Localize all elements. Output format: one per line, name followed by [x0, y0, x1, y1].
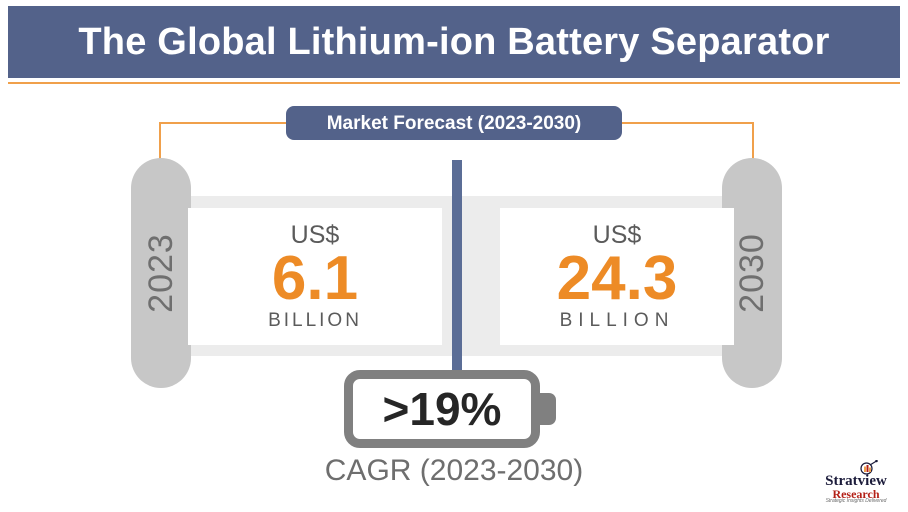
battery-body: >19%: [344, 370, 540, 448]
brand-logo: Stratview Research Strategic Insights De…: [812, 460, 900, 506]
infographic-canvas: The Global Lithium-ion Battery Separator…: [0, 0, 908, 512]
cagr-value: >19%: [383, 386, 502, 432]
header-bar: The Global Lithium-ion Battery Separator: [8, 6, 900, 78]
cagr-label: CAGR (2023-2030): [0, 456, 908, 486]
value-card-end: US$ 24.3 BILLION: [500, 208, 734, 345]
center-divider: [452, 160, 462, 375]
connector-right-horizontal: [620, 122, 754, 124]
logo-tagline: Strategic Insights Delivered: [812, 499, 900, 504]
value-unit-start: BILLION: [268, 311, 362, 330]
value-number-end: 24.3: [557, 250, 678, 309]
value-card-start: US$ 6.1 BILLION: [188, 208, 442, 345]
year-label-start: 2023: [144, 233, 178, 313]
year-pill-start: 2023: [131, 158, 191, 388]
connector-left-horizontal: [159, 122, 294, 124]
header-accent-rule: [8, 82, 900, 84]
year-label-end: 2030: [735, 233, 769, 313]
cagr-battery-icon: >19%: [344, 370, 564, 448]
value-unit-end: BILLION: [560, 311, 675, 330]
value-number-start: 6.1: [272, 250, 358, 309]
market-forecast-label: Market Forecast (2023-2030): [327, 114, 582, 133]
market-forecast-badge: Market Forecast (2023-2030): [286, 106, 622, 140]
page-title: The Global Lithium-ion Battery Separator: [78, 23, 829, 61]
